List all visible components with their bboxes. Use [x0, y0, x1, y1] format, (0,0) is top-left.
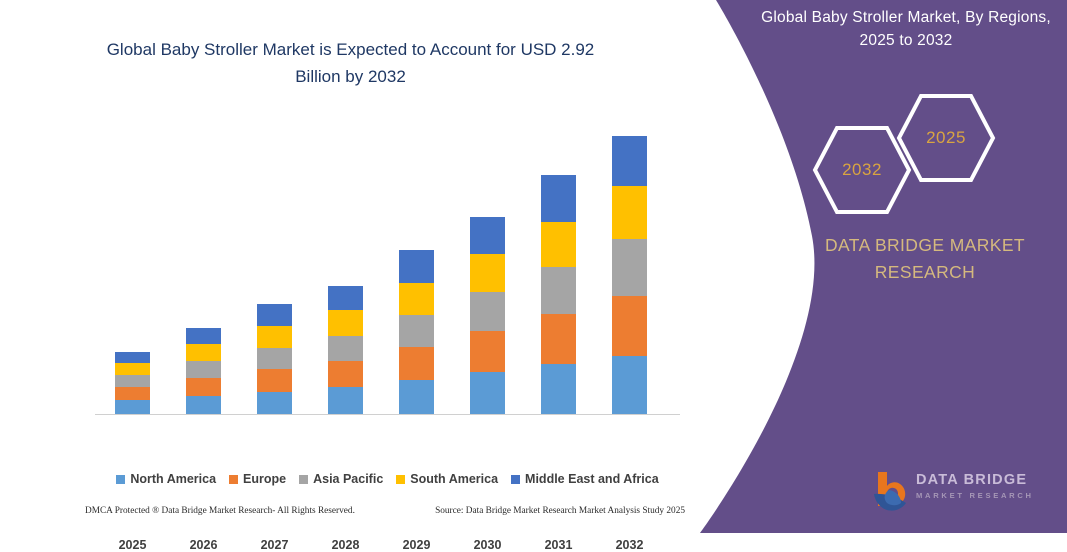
bar-segment-asia-pacific [328, 336, 363, 361]
bar-segment-south-america [399, 283, 434, 315]
legend-swatch-icon [299, 475, 308, 484]
bar-segment-asia-pacific [257, 348, 292, 369]
bar-segment-europe [257, 369, 292, 392]
bar-segment-europe [399, 347, 434, 380]
bar-segment-middle-east-and-africa [470, 217, 505, 254]
footer-source: Source: Data Bridge Market Research Mark… [435, 506, 685, 516]
footer: DMCA Protected ® Data Bridge Market Rese… [85, 506, 685, 516]
footer-dmca: DMCA Protected ® Data Bridge Market Rese… [85, 506, 355, 516]
bar-segment-north-america [541, 364, 576, 414]
legend-item-middle-east-and-africa[interactable]: Middle East and Africa [511, 472, 659, 486]
bar-2028 [328, 286, 363, 414]
bar-2029 [399, 250, 434, 414]
hexagon-2025-label: 2025 [896, 128, 996, 148]
bar-segment-north-america [612, 356, 647, 414]
chart-plot-area: 20252026202720282029203020312032 [95, 120, 680, 415]
x-axis-label-2030: 2030 [458, 538, 518, 552]
bar-segment-europe [470, 331, 505, 372]
bar-segment-europe [186, 378, 221, 396]
bar-segment-middle-east-and-africa [541, 175, 576, 222]
x-axis-label-2028: 2028 [316, 538, 376, 552]
data-bridge-logo: DATA BRIDGE MARKET RESEARCH [872, 468, 1047, 514]
logo-text: DATA BRIDGE MARKET RESEARCH [916, 472, 1034, 503]
bar-segment-north-america [470, 372, 505, 414]
brand-line-1: DATA BRIDGE MARKET [800, 232, 1050, 259]
bar-segment-middle-east-and-africa [115, 352, 150, 363]
legend-swatch-icon [116, 475, 125, 484]
bar-segment-north-america [399, 380, 434, 414]
bar-segment-europe [328, 361, 363, 387]
legend-item-europe[interactable]: Europe [229, 472, 286, 486]
bar-2025 [115, 352, 150, 414]
legend-item-south-america[interactable]: South America [396, 472, 498, 486]
brand-line-2: RESEARCH [800, 259, 1050, 286]
bar-segment-middle-east-and-africa [328, 286, 363, 310]
legend-swatch-icon [511, 475, 520, 484]
legend-label: South America [410, 472, 498, 486]
x-axis-label-2032: 2032 [600, 538, 660, 552]
legend-label: Middle East and Africa [525, 472, 659, 486]
bar-segment-asia-pacific [612, 239, 647, 296]
x-axis-label-2025: 2025 [103, 538, 163, 552]
bar-segment-south-america [186, 344, 221, 361]
bar-segment-north-america [186, 396, 221, 414]
legend-swatch-icon [396, 475, 405, 484]
bar-segment-north-america [115, 400, 150, 414]
bar-segment-south-america [612, 186, 647, 239]
x-axis-label-2026: 2026 [174, 538, 234, 552]
legend-label: Asia Pacific [313, 472, 383, 486]
bar-segment-asia-pacific [186, 361, 221, 378]
logo-line-2: MARKET RESEARCH [916, 489, 1034, 503]
bar-segment-south-america [115, 363, 150, 375]
bar-2032 [612, 136, 647, 414]
bar-segment-asia-pacific [115, 375, 150, 387]
legend-label: North America [130, 472, 216, 486]
bar-2026 [186, 328, 221, 414]
bar-segment-middle-east-and-africa [399, 250, 434, 283]
bar-segment-north-america [328, 387, 363, 414]
bar-2030 [470, 217, 505, 414]
bar-2031 [541, 175, 576, 414]
x-axis-label-2027: 2027 [245, 538, 305, 552]
bar-segment-europe [115, 387, 150, 400]
x-axis-label-2029: 2029 [387, 538, 447, 552]
hexagon-group: 2032 2025 [812, 92, 1002, 197]
bar-segment-middle-east-and-africa [612, 136, 647, 186]
bar-segment-asia-pacific [541, 267, 576, 314]
bar-segment-south-america [541, 222, 576, 267]
logo-b-mark [872, 468, 914, 512]
bar-segment-south-america [470, 254, 505, 292]
bar-segment-middle-east-and-africa [186, 328, 221, 344]
bar-segment-middle-east-and-africa [257, 304, 292, 326]
x-axis-label-2031: 2031 [529, 538, 589, 552]
infographic-root: Global Baby Stroller Market, By Regions,… [0, 0, 1067, 533]
x-axis-line [95, 414, 680, 415]
legend-swatch-icon [229, 475, 238, 484]
logo-line-1: DATA BRIDGE [916, 472, 1034, 489]
bar-segment-asia-pacific [470, 292, 505, 331]
chart-legend: North AmericaEuropeAsia PacificSouth Ame… [95, 472, 680, 486]
bar-2027 [257, 304, 292, 414]
bar-segment-asia-pacific [399, 315, 434, 347]
bar-segment-north-america [257, 392, 292, 414]
legend-item-asia-pacific[interactable]: Asia Pacific [299, 472, 383, 486]
bar-segment-europe [612, 296, 647, 356]
chart-title: Global Baby Stroller Market is Expected … [88, 36, 613, 90]
bar-segment-south-america [328, 310, 363, 336]
bar-segment-south-america [257, 326, 292, 348]
legend-item-north-america[interactable]: North America [116, 472, 216, 486]
brand-name: DATA BRIDGE MARKET RESEARCH [800, 232, 1050, 286]
panel-title: Global Baby Stroller Market, By Regions,… [756, 6, 1056, 52]
legend-label: Europe [243, 472, 286, 486]
bar-segment-europe [541, 314, 576, 364]
